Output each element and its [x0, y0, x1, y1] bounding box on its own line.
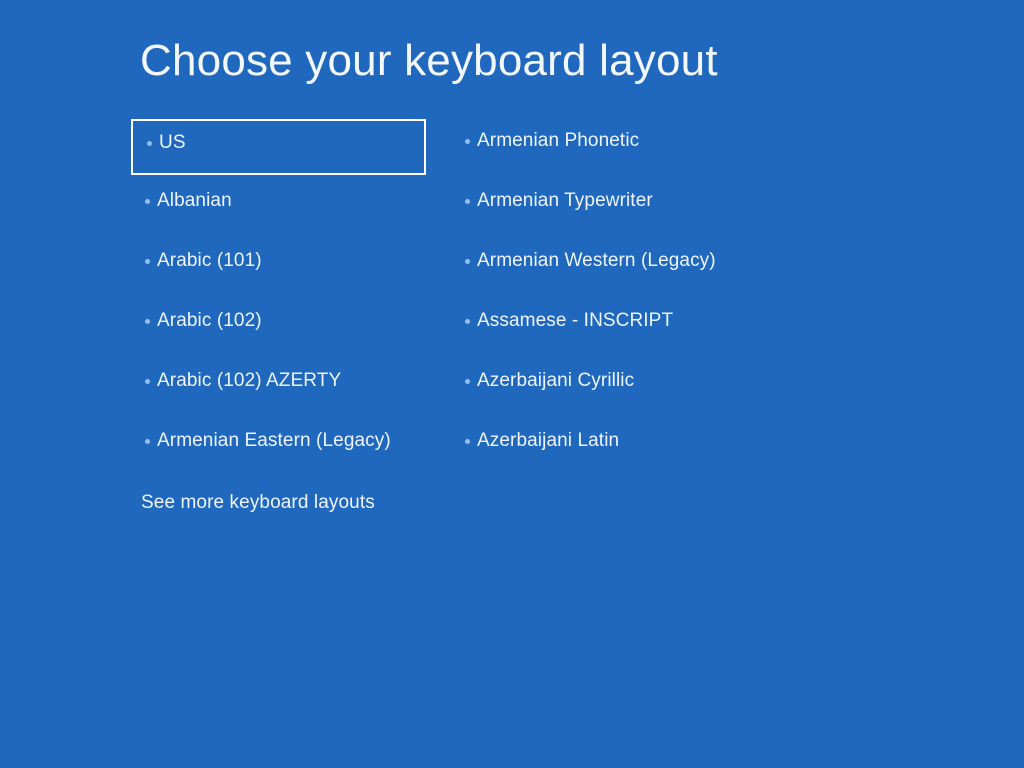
- keyboard-layout-item[interactable]: Assamese - INSCRIPT: [451, 299, 781, 359]
- keyboard-layout-item[interactable]: Armenian Western (Legacy): [451, 239, 781, 299]
- bullet-icon: [147, 141, 152, 146]
- page-title: Choose your keyboard layout: [140, 36, 718, 87]
- bullet-icon: [465, 139, 470, 144]
- keyboard-layout-item-label: Albanian: [157, 190, 232, 212]
- bullet-icon: [145, 319, 150, 324]
- keyboard-layout-item-label: Armenian Western (Legacy): [477, 250, 716, 272]
- keyboard-layout-item-label: Assamese - INSCRIPT: [477, 310, 673, 332]
- keyboard-layout-screen: Choose your keyboard layout USAlbanianAr…: [0, 0, 1024, 768]
- keyboard-layout-item[interactable]: Armenian Eastern (Legacy): [131, 419, 431, 479]
- bullet-icon: [145, 379, 150, 384]
- bullet-icon: [465, 379, 470, 384]
- keyboard-layout-item-label: Arabic (101): [157, 250, 262, 272]
- keyboard-layout-item-label: Armenian Typewriter: [477, 190, 653, 212]
- keyboard-layout-item-label: Azerbaijani Cyrillic: [477, 370, 634, 392]
- keyboard-layout-item[interactable]: Armenian Phonetic: [451, 119, 781, 179]
- keyboard-layout-list-left: USAlbanianArabic (101)Arabic (102)Arabic…: [131, 119, 431, 479]
- keyboard-layout-item[interactable]: Armenian Typewriter: [451, 179, 781, 239]
- keyboard-layout-item-label: US: [159, 132, 186, 154]
- bullet-icon: [465, 199, 470, 204]
- keyboard-layout-item-label: Azerbaijani Latin: [477, 430, 619, 452]
- keyboard-layout-item[interactable]: Albanian: [131, 179, 431, 239]
- keyboard-layout-item-label: Armenian Phonetic: [477, 130, 639, 152]
- keyboard-layout-list-right: Armenian PhoneticArmenian TypewriterArme…: [451, 119, 781, 479]
- see-more-keyboard-layouts-link[interactable]: See more keyboard layouts: [141, 492, 375, 514]
- keyboard-layout-item-label: Arabic (102): [157, 310, 262, 332]
- keyboard-layout-item[interactable]: Arabic (101): [131, 239, 431, 299]
- bullet-icon: [465, 319, 470, 324]
- keyboard-layout-item[interactable]: Azerbaijani Latin: [451, 419, 781, 479]
- keyboard-layout-item[interactable]: Arabic (102): [131, 299, 431, 359]
- bullet-icon: [145, 439, 150, 444]
- bullet-icon: [145, 259, 150, 264]
- bullet-icon: [465, 259, 470, 264]
- keyboard-layout-item-label: Arabic (102) AZERTY: [157, 370, 341, 392]
- keyboard-layout-item[interactable]: US: [131, 119, 426, 175]
- keyboard-layout-item[interactable]: Azerbaijani Cyrillic: [451, 359, 781, 419]
- bullet-icon: [145, 199, 150, 204]
- bullet-icon: [465, 439, 470, 444]
- keyboard-layout-item[interactable]: Arabic (102) AZERTY: [131, 359, 431, 419]
- keyboard-layout-item-label: Armenian Eastern (Legacy): [157, 430, 391, 452]
